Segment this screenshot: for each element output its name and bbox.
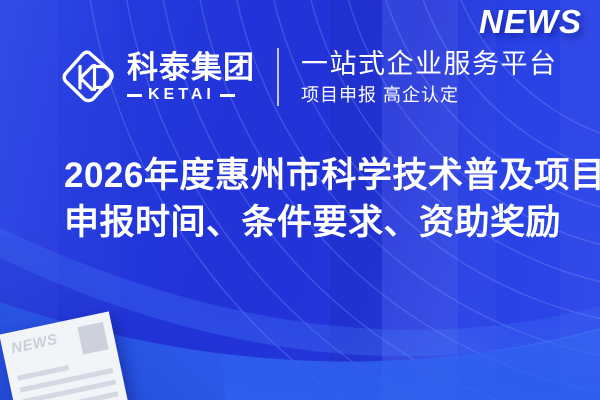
brand-logo[interactable]: 科泰集团 KETAI [60, 48, 255, 106]
news-watermark-label: NEWS [479, 3, 582, 41]
news-banner: NEWS 科泰集团 [0, 0, 600, 400]
brand-name-en-row: KETAI [127, 87, 255, 103]
header-divider [277, 48, 279, 106]
dash-right-icon [220, 94, 235, 97]
brand-tagline: 一站式企业服务平台 项目申报 高企认定 [301, 45, 558, 109]
headline-block: 2026年度惠州市科学技术普及项目 申报时间、条件要求、资助奖励 [64, 152, 584, 246]
brand-name-en: KETAI [148, 87, 215, 103]
tagline-secondary: 项目申报 高企认定 [301, 83, 558, 107]
newspaper-card-header: NEWS [10, 322, 109, 369]
headline-line-2: 申报时间、条件要求、资助奖励 [64, 199, 584, 246]
banner-header: 科泰集团 KETAI 一站式企业服务平台 项目申报 高企认定 [0, 38, 600, 116]
brand-name-cn: 科泰集团 [127, 51, 255, 85]
dash-left-icon [127, 94, 142, 97]
image-placeholder-icon [77, 322, 108, 355]
brand-logo-wordmark: 科泰集团 KETAI [127, 48, 255, 106]
newspaper-card-title: NEWS [10, 332, 59, 357]
headline-line-1: 2026年度惠州市科学技术普及项目 [64, 152, 584, 199]
ketai-diamond-monogram-icon [60, 48, 118, 106]
tagline-primary: 一站式企业服务平台 [301, 48, 558, 80]
